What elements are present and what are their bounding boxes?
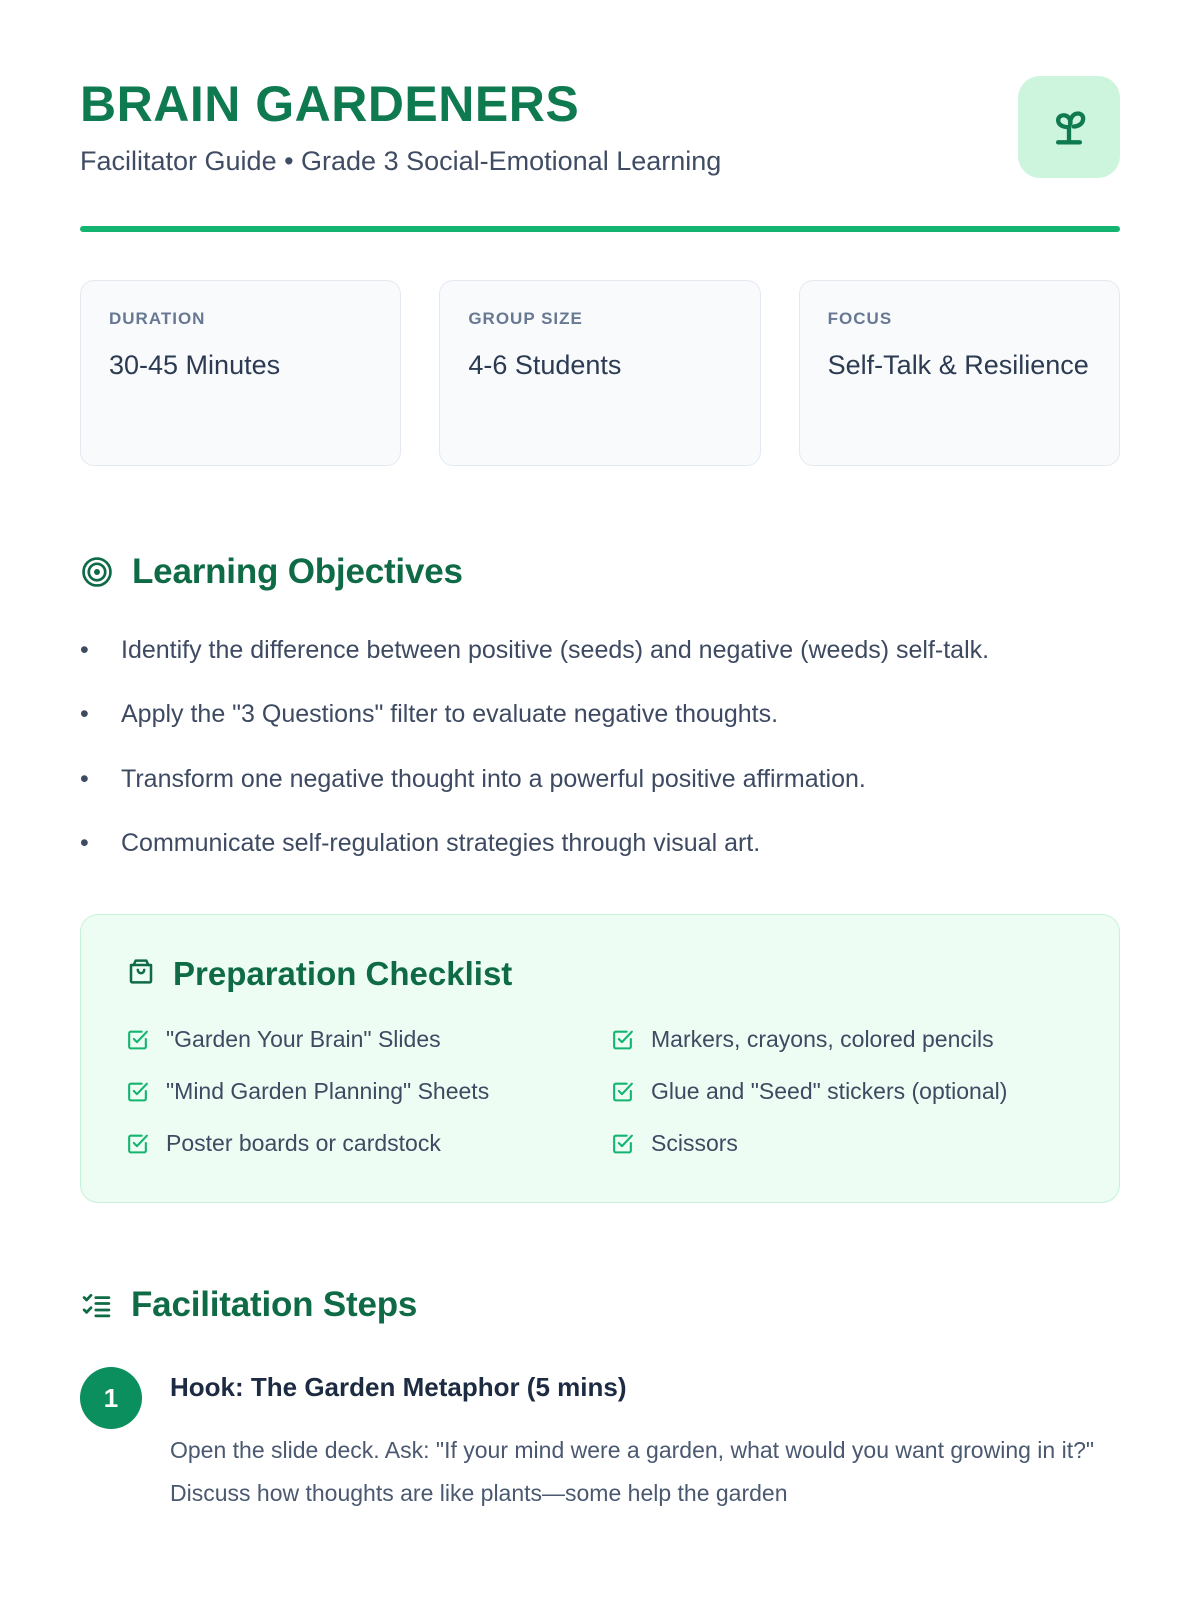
checklist-item-label: "Garden Your Brain" Slides — [166, 1025, 441, 1055]
list-item: • Transform one negative thought into a … — [80, 757, 1120, 802]
checklist-item-label: "Mind Garden Planning" Sheets — [166, 1077, 489, 1107]
checklist-item-label: Markers, crayons, colored pencils — [651, 1025, 994, 1055]
objective-text: Identify the difference between positive… — [121, 628, 1120, 673]
section-title: Learning Objectives — [132, 552, 463, 592]
preparation-checklist-grid: "Garden Your Brain" Slides Markers, cray… — [125, 1025, 1075, 1159]
checkbox-checked-icon[interactable] — [125, 1027, 150, 1052]
checklist-item-label: Scissors — [651, 1129, 738, 1159]
list-item: • Communicate self-regulation strategies… — [80, 821, 1120, 866]
checklist-item[interactable]: Poster boards or cardstock — [125, 1129, 590, 1159]
bullet-glyph: • — [80, 628, 121, 673]
checkbox-checked-icon[interactable] — [125, 1131, 150, 1156]
section-title: Preparation Checklist — [173, 955, 512, 993]
target-icon — [80, 555, 114, 589]
step-item: 1 Hook: The Garden Metaphor (5 mins) Ope… — [80, 1365, 1120, 1514]
objective-text: Communicate self-regulation strategies t… — [121, 821, 1120, 866]
shopping-bag-icon — [125, 955, 157, 992]
info-card-duration: DURATION 30-45 Minutes — [80, 280, 401, 466]
checklist-item[interactable]: Scissors — [610, 1129, 1075, 1159]
header-text-block: BRAIN GARDENERS Facilitator Guide • Grad… — [80, 72, 721, 179]
checkbox-checked-icon[interactable] — [610, 1027, 635, 1052]
info-card-value: 4-6 Students — [468, 346, 731, 385]
page-title: BRAIN GARDENERS — [80, 78, 721, 131]
document-header: BRAIN GARDENERS Facilitator Guide • Grad… — [80, 0, 1120, 179]
section-title: Facilitation Steps — [131, 1285, 417, 1325]
info-card-label: GROUP SIZE — [468, 309, 731, 329]
step-description: Open the slide deck. Ask: "If your mind … — [170, 1429, 1120, 1514]
sprout-badge — [1018, 76, 1120, 178]
facilitation-steps-list: 1 Hook: The Garden Metaphor (5 mins) Ope… — [80, 1365, 1120, 1514]
page-subtitle: Facilitator Guide • Grade 3 Social-Emoti… — [80, 145, 721, 179]
learning-objectives-heading: Learning Objectives — [80, 552, 1120, 592]
info-card-focus: FOCUS Self-Talk & Resilience — [799, 280, 1120, 466]
checklist-item[interactable]: Glue and "Seed" stickers (optional) — [610, 1077, 1075, 1107]
document-page: BRAIN GARDENERS Facilitator Guide • Grad… — [0, 0, 1200, 1600]
bullet-glyph: • — [80, 692, 121, 737]
bullet-glyph: • — [80, 821, 121, 866]
list-checks-icon — [80, 1289, 113, 1322]
bullet-glyph: • — [80, 757, 121, 802]
preparation-checklist-panel: Preparation Checklist "Garden Your Brain… — [80, 914, 1120, 1204]
step-number-badge: 1 — [80, 1367, 142, 1429]
info-card-value: 30-45 Minutes — [109, 346, 372, 385]
step-body: Hook: The Garden Metaphor (5 mins) Open … — [170, 1365, 1120, 1514]
info-card-value: Self-Talk & Resilience — [828, 346, 1091, 385]
info-card-row: DURATION 30-45 Minutes GROUP SIZE 4-6 St… — [80, 280, 1120, 466]
checkbox-checked-icon[interactable] — [610, 1131, 635, 1156]
checkbox-checked-icon[interactable] — [125, 1079, 150, 1104]
preparation-checklist-heading: Preparation Checklist — [125, 955, 1075, 993]
objective-text: Apply the "3 Questions" filter to evalua… — [121, 692, 1120, 737]
info-card-label: FOCUS — [828, 309, 1091, 329]
checkbox-checked-icon[interactable] — [610, 1079, 635, 1104]
info-card-label: DURATION — [109, 309, 372, 329]
checklist-item-label: Poster boards or cardstock — [166, 1129, 441, 1159]
list-item: • Apply the "3 Questions" filter to eval… — [80, 692, 1120, 737]
checklist-item[interactable]: "Mind Garden Planning" Sheets — [125, 1077, 590, 1107]
sprout-icon — [1043, 99, 1095, 156]
checklist-item[interactable]: Markers, crayons, colored pencils — [610, 1025, 1075, 1055]
list-item: • Identify the difference between positi… — [80, 628, 1120, 673]
facilitation-steps-heading: Facilitation Steps — [80, 1285, 1120, 1325]
learning-objectives-list: • Identify the difference between positi… — [80, 628, 1120, 866]
checklist-item-label: Glue and "Seed" stickers (optional) — [651, 1077, 1007, 1107]
header-divider — [80, 226, 1120, 232]
checklist-item[interactable]: "Garden Your Brain" Slides — [125, 1025, 590, 1055]
info-card-group-size: GROUP SIZE 4-6 Students — [439, 280, 760, 466]
objective-text: Transform one negative thought into a po… — [121, 757, 1120, 802]
step-title: Hook: The Garden Metaphor (5 mins) — [170, 1371, 1120, 1405]
